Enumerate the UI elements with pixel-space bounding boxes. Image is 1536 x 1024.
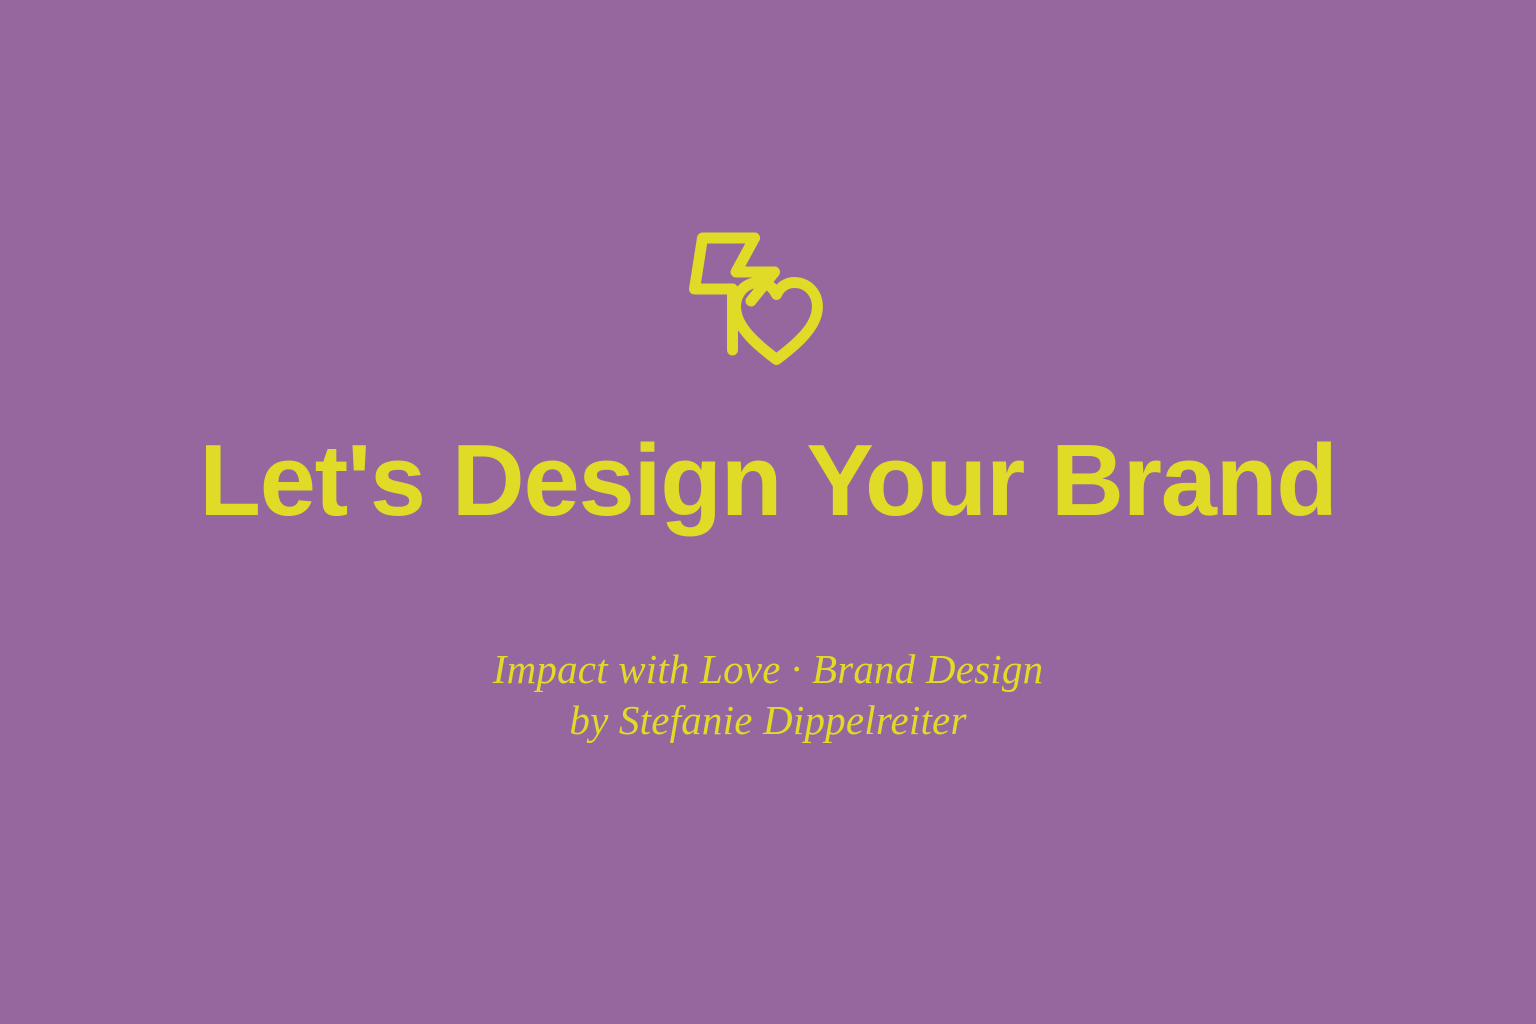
subtitle: Impact with Love · Brand Design by Stefa… bbox=[0, 644, 1536, 746]
logo-svg bbox=[688, 232, 848, 374]
subtitle-line-tagline: Impact with Love · Brand Design bbox=[0, 644, 1536, 695]
page-title: Let's Design Your Brand bbox=[0, 425, 1536, 538]
heart-icon bbox=[736, 283, 818, 360]
brand-slide: Let's Design Your Brand Impact with Love… bbox=[0, 0, 1536, 1024]
subtitle-line-author: by Stefanie Dippelreiter bbox=[0, 695, 1536, 746]
lightning-bolt-heart-logo bbox=[688, 232, 848, 374]
